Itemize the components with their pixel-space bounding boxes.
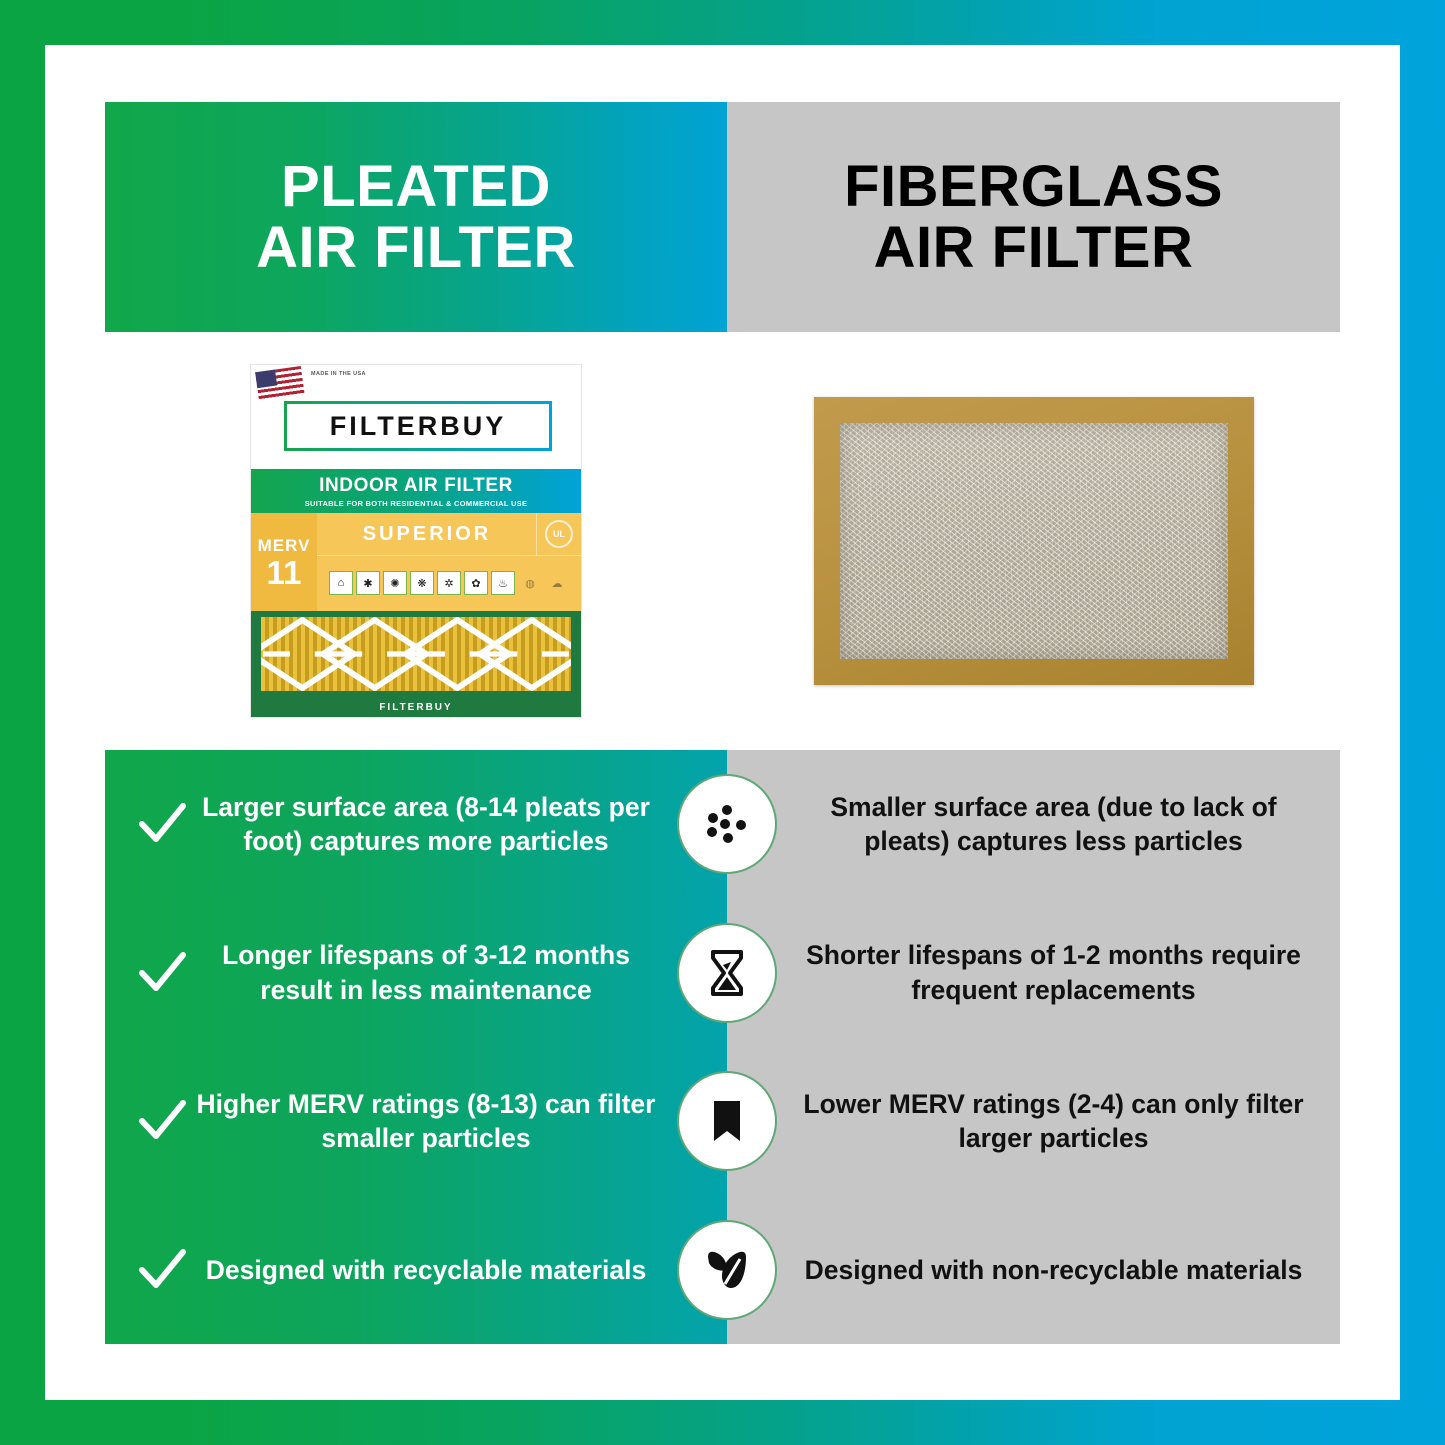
smoke-icon: ♨	[491, 571, 515, 595]
comparison-row-right: Lower MERV ratings (2-4) can only filter…	[727, 1087, 1340, 1156]
header-fiberglass: FIBERGLASS AIR FILTER	[727, 102, 1340, 332]
infographic-card: PLEATED AIR FILTER FIBERGLASS AIR FILTER…	[45, 45, 1400, 1400]
comparison-row: Designed with recyclable materials Desig…	[105, 1196, 1340, 1345]
product-image-row: MADE IN THE USA FILTERBUY INDOOR AIR FIL…	[105, 332, 1340, 750]
pleated-media-area: FILTERBUY	[251, 611, 581, 717]
feature-icon-strip: ⌂ ✱ ✺ ❋ ✲ ✿ ♨ ◍ ☁	[317, 555, 581, 611]
mold-icon: ❋	[410, 571, 434, 595]
header-fiberglass-title: FIBERGLASS AIR FILTER	[844, 156, 1223, 279]
comparison-row: Higher MERV ratings (8-13) can filter sm…	[105, 1047, 1340, 1196]
comparison-right-text: Lower MERV ratings (2-4) can only filter…	[797, 1087, 1310, 1156]
checkmark-icon	[133, 944, 191, 1002]
fiberglass-product-cell	[727, 332, 1340, 750]
made-in-usa-label: MADE IN THE USA	[311, 371, 366, 378]
comparison-right-text: Shorter lifespans of 1-2 months require …	[797, 938, 1310, 1007]
filterbuy-logo: FILTERBUY	[284, 401, 552, 451]
hourglass-icon	[677, 923, 777, 1023]
comparison-left-text: Higher MERV ratings (8-13) can filter sm…	[195, 1087, 657, 1156]
comparison-section: Larger surface area (8-14 pleats per foo…	[105, 750, 1340, 1344]
ul-seal-icon: UL	[545, 520, 573, 548]
pleated-box-spec-strip: MERV 11 SUPERIOR UL ⌂ ✱ ✺ ❋ ✲	[251, 513, 581, 611]
infographic-inner: PLEATED AIR FILTER FIBERGLASS AIR FILTER…	[105, 102, 1340, 1344]
comparison-row-right: Smaller surface area (due to lack of ple…	[727, 790, 1340, 859]
certification-seal: UL	[536, 513, 581, 556]
merv-badge: MERV 11	[251, 513, 317, 611]
smog-icon: ☁	[545, 571, 569, 595]
comparison-row: Larger surface area (8-14 pleats per foo…	[105, 750, 1340, 899]
bookmark-icon	[677, 1071, 777, 1171]
checkmark-icon	[133, 1092, 191, 1150]
indoor-air-filter-label: INDOOR AIR FILTER	[319, 475, 513, 497]
comparison-row-left: Longer lifespans of 3-12 months result i…	[105, 938, 727, 1007]
bacteria-icon: ◍	[518, 571, 542, 595]
fiberglass-filter-product-image	[814, 397, 1254, 685]
merv-value: 11	[267, 556, 302, 589]
comparison-row-right: Designed with non-recyclable materials	[727, 1253, 1340, 1287]
pet-dander-icon: ✿	[464, 571, 488, 595]
pleated-box-band: INDOOR AIR FILTER SUITABLE FOR BOTH RESI…	[251, 469, 581, 513]
comparison-left-text: Longer lifespans of 3-12 months result i…	[195, 938, 657, 1007]
particles-icon	[677, 774, 777, 874]
pollen-icon: ✲	[437, 571, 461, 595]
merv-label: MERV	[258, 536, 311, 556]
bug-icon: ✱	[356, 571, 380, 595]
header-pleated-title: PLEATED AIR FILTER	[256, 156, 576, 279]
suitable-use-label: SUITABLE FOR BOTH RESIDENTIAL & COMMERCI…	[305, 499, 528, 508]
comparison-row-left: Designed with recyclable materials	[105, 1241, 727, 1299]
pleated-product-cell: MADE IN THE USA FILTERBUY INDOOR AIR FIL…	[105, 332, 727, 750]
checkmark-icon	[133, 795, 191, 853]
comparison-row: Longer lifespans of 3-12 months result i…	[105, 899, 1340, 1048]
usa-flag-icon	[255, 366, 305, 402]
dust-icon: ⌂	[329, 571, 353, 595]
comparison-row-left: Larger surface area (8-14 pleats per foo…	[105, 790, 727, 859]
pleated-box-footer-brand: FILTERBUY	[251, 702, 581, 713]
virus-icon: ✺	[383, 571, 407, 595]
header-pleated: PLEATED AIR FILTER	[105, 102, 727, 332]
header-row: PLEATED AIR FILTER FIBERGLASS AIR FILTER	[105, 102, 1340, 332]
comparison-rows: Larger surface area (8-14 pleats per foo…	[105, 750, 1340, 1344]
comparison-left-text: Designed with recyclable materials	[195, 1253, 657, 1287]
leaf-icon	[677, 1220, 777, 1320]
fiberglass-media-texture	[840, 423, 1228, 659]
comparison-row-right: Shorter lifespans of 1-2 months require …	[727, 938, 1340, 1007]
support-mesh-icon	[261, 617, 571, 691]
comparison-row-left: Higher MERV ratings (8-13) can filter sm…	[105, 1087, 727, 1156]
checkmark-icon	[133, 1241, 191, 1299]
pleated-filter-product-image: MADE IN THE USA FILTERBUY INDOOR AIR FIL…	[251, 365, 581, 717]
filterbuy-logo-text: FILTERBUY	[330, 411, 507, 442]
comparison-right-text: Designed with non-recyclable materials	[797, 1253, 1310, 1287]
comparison-left-text: Larger surface area (8-14 pleats per foo…	[195, 790, 657, 859]
comparison-right-text: Smaller surface area (due to lack of ple…	[797, 790, 1310, 859]
tier-label: SUPERIOR	[317, 513, 537, 556]
